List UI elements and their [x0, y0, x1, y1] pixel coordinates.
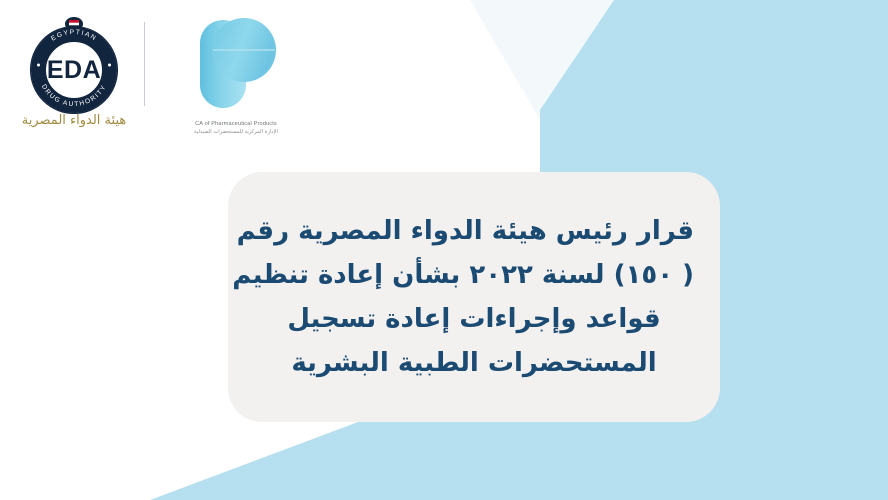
- logo-bar: EGYPTIAN DRUG AUTHORITY EDA هيئة الدواء …: [0, 0, 520, 150]
- decree-title-line-3: قواعد وإجراءات إعادة تسجيل: [254, 297, 694, 341]
- ca-caption-english: CA of Pharmaceutical Products: [172, 120, 300, 128]
- logo-divider: [144, 22, 145, 106]
- slide-root: EGYPTIAN DRUG AUTHORITY EDA هيئة الدواء …: [0, 0, 888, 500]
- pill-capsule-tablet-icon: [182, 6, 282, 121]
- right-blue-fill: [720, 404, 888, 500]
- decree-title-line-1: قرار رئيس هيئة الدواء المصرية رقم: [254, 209, 694, 253]
- eda-seal-icon: EGYPTIAN DRUG AUTHORITY EDA هيئة الدواء …: [18, 8, 130, 132]
- ca-pharmaceutical-logo: CA of Pharmaceutical Products الإدارة ال…: [172, 6, 300, 146]
- decree-title-line-2: ( ١٥٠) لسنة ٢٠٢٢ بشأن إعادة تنظيم: [254, 253, 694, 297]
- ca-logo-caption: CA of Pharmaceutical Products الإدارة ال…: [172, 120, 300, 136]
- bottom-blue-band: [150, 410, 888, 500]
- decree-title-line-4: المستحضرات الطبية البشرية: [254, 341, 694, 385]
- title-card: قرار رئيس هيئة الدواء المصرية رقم ( ١٥٠)…: [228, 172, 720, 422]
- svg-text:هيئة الدواء المصرية: هيئة الدواء المصرية: [22, 113, 127, 128]
- decree-title: قرار رئيس هيئة الدواء المصرية رقم ( ١٥٠)…: [254, 209, 694, 385]
- top-right-pale-wedge: [470, 0, 888, 120]
- svg-text:EDA: EDA: [47, 56, 101, 84]
- ca-caption-arabic: الإدارة المركزية للمستحضرات الصيدلية: [172, 128, 300, 136]
